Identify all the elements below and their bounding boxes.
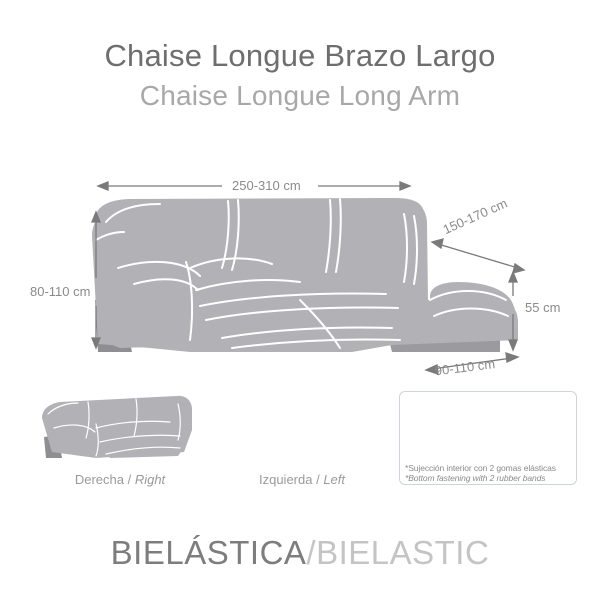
sofa-base-shadow-right (388, 336, 500, 352)
banner-spanish: BIELÁSTICA (111, 534, 307, 571)
variant-right-spanish: Derecha (75, 472, 124, 487)
banner-separator: / (306, 534, 316, 571)
dimension-label-height-seat: 55 cm (521, 300, 564, 315)
variant-caption-left: Izquierda / Left (222, 472, 382, 487)
fastening-note-english: *Bottom fastening with 2 rubber bands (405, 473, 545, 483)
page-title-english: Chaise Longue Long Arm (0, 80, 600, 112)
variant-right-english: Right (135, 472, 165, 487)
variant-right-separator: / (124, 472, 135, 487)
variant-left-separator: / (312, 472, 323, 487)
dim-left-arrowhead-top (92, 212, 100, 222)
sofa-left-arm (96, 242, 194, 348)
dim-diagonal-line (438, 244, 518, 268)
dimension-label-height-back: 80-110 cm (26, 284, 94, 299)
dim-right-arrowhead-bottom (509, 340, 517, 350)
dim-bottom-arrowhead-right (506, 353, 518, 362)
dim-diagonal-arrowhead-right (513, 264, 524, 273)
dim-diagonal-arrowhead-left (432, 239, 443, 248)
thumb-right-body (42, 396, 192, 458)
fabric-type-banner: BIELÁSTICA/BIELASTIC (0, 534, 600, 572)
dim-right-arrowhead-top (509, 272, 517, 282)
dimension-arrows (92, 182, 524, 374)
variant-caption-right: Derecha / Right (40, 472, 200, 487)
dim-left-arrowhead-bottom (92, 338, 100, 348)
dimension-label-depth-chaise: 90-110 cm (430, 356, 500, 379)
sofa-chaise-seat (196, 296, 420, 350)
thumb-right-seat (98, 434, 186, 458)
thumb-right-seams (48, 399, 180, 456)
sofa-base-shadow-left (95, 296, 132, 352)
thumb-right-arm (44, 411, 100, 456)
thumb-right-shadow (44, 435, 62, 458)
page-title-spanish: Chaise Longue Brazo Largo (0, 38, 600, 74)
dim-top-arrowhead-left (98, 182, 108, 190)
dimension-label-depth-diagonal: 150-170 cm (437, 194, 513, 239)
dim-top-arrowhead-right (400, 182, 410, 190)
variant-thumbnail-right (42, 396, 192, 458)
sofa-backrest-top (96, 198, 424, 240)
product-diagram: Chaise Longue Brazo Largo Chaise Longue … (0, 0, 600, 600)
sofa-right-arm (430, 282, 517, 342)
variant-left-spanish: Izquierda (259, 472, 312, 487)
banner-english: BIELASTIC (316, 534, 489, 571)
dimension-label-width: 250-310 cm (228, 178, 305, 193)
variant-left-english: Left (323, 472, 345, 487)
fastening-note-spanish: *Sujección interior con 2 gomas elástica… (405, 463, 556, 473)
